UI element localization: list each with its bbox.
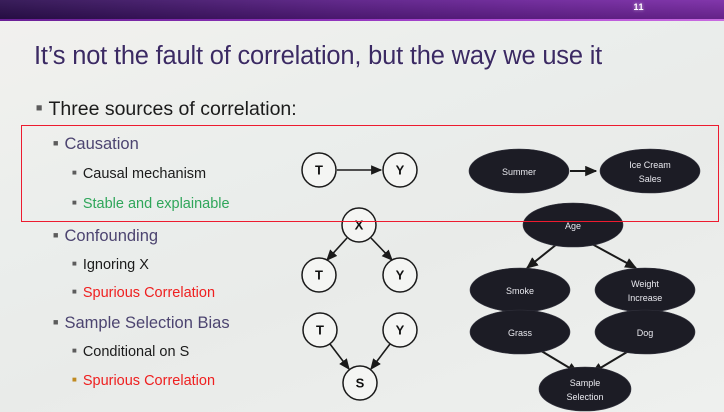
node-y-selection-label: Y: [396, 323, 405, 338]
ellipse-summer-label: Summer: [502, 167, 536, 177]
edge-t-to-s: [330, 344, 349, 369]
ellipse-grass-label: Grass: [508, 328, 533, 338]
graph-causation: T Y: [302, 153, 417, 187]
ellipse-weight-increase-label-line1: Weight: [631, 279, 659, 289]
node-y-causation-label: Y: [396, 163, 405, 178]
example-selection: Grass Dog Sample Selection: [470, 310, 695, 411]
node-t-selection-label: T: [316, 323, 324, 338]
ellipse-weight-increase: [595, 268, 695, 312]
node-y-confounding-label: Y: [396, 268, 405, 283]
slide-canvas: 11 It’s not the fault of correlation, bu…: [0, 0, 724, 412]
graph-confounding: X T Y: [302, 208, 417, 292]
edge-x-to-y: [371, 238, 392, 260]
node-t-confounding-label: T: [315, 268, 323, 283]
ellipse-weight-increase-label-line2: Increase: [628, 293, 663, 303]
edge-age-to-smoke: [527, 244, 557, 268]
ellipse-ice-cream-sales-label-line2: Sales: [639, 174, 662, 184]
example-confounding: Age Smoke Weight Increase: [470, 203, 695, 312]
ellipse-sample-selection-label-line1: Sample: [570, 378, 601, 388]
node-s-selection-label: S: [356, 376, 365, 391]
ellipse-dog-label: Dog: [637, 328, 654, 338]
node-x-confounding-label: X: [355, 218, 364, 233]
diagram-layer: T Y X T Y T Y S: [0, 0, 724, 412]
ellipse-smoke-label: Smoke: [506, 286, 534, 296]
ellipse-sample-selection: [539, 367, 631, 411]
example-causation: Summer Ice Cream Sales: [469, 149, 700, 193]
ellipse-age-label: Age: [565, 221, 581, 231]
ellipse-ice-cream-sales-label-line1: Ice Cream: [629, 160, 671, 170]
ellipse-ice-cream-sales: [600, 149, 700, 193]
edge-y-to-s: [371, 344, 390, 369]
ellipse-sample-selection-label-line2: Selection: [566, 392, 603, 402]
edge-age-to-weight-increase: [592, 244, 636, 268]
node-t-causation-label: T: [315, 163, 323, 178]
edge-x-to-t: [327, 238, 347, 260]
graph-selection: T Y S: [303, 313, 417, 400]
